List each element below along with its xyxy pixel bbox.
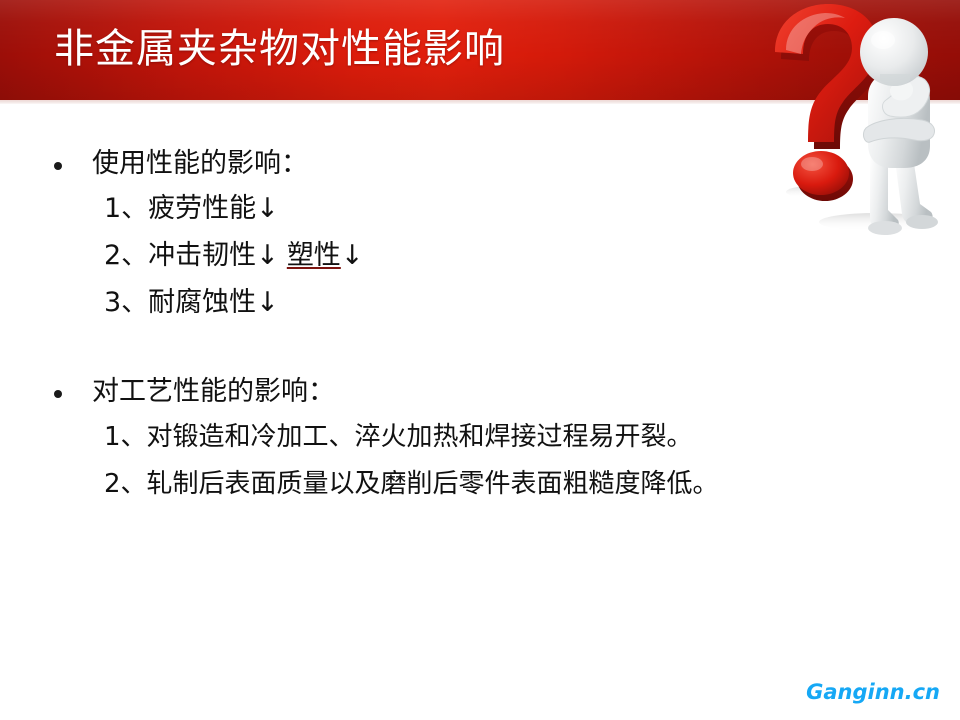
sub-item-row: 3、耐腐蚀性↓: [0, 282, 920, 329]
sub-item-row: 2、轧制后表面质量以及磨削后零件表面粗糙度降低。: [0, 463, 920, 510]
bullet-label: 对工艺性能的影响：: [92, 372, 335, 412]
watermark-logo: Ganginn.cn: [806, 680, 940, 704]
sub-item-underlined-term: 塑性: [287, 240, 341, 271]
sub-item-row: 1、对锻造和冷加工、淬火加热和焊接过程易开裂。: [0, 416, 920, 463]
presentation-slide: 非金属夹杂物对性能影响: [0, 0, 960, 720]
bullet-block-process-performance: 对工艺性能的影响： 1、对锻造和冷加工、淬火加热和焊接过程易开裂。 2、轧制后表…: [0, 372, 920, 510]
sub-item-text: 1、疲劳性能↓: [104, 188, 279, 230]
page-title: 非金属夹杂物对性能影响: [54, 25, 505, 73]
bullet-dot-icon: [54, 162, 62, 170]
sub-item-text: 1、对锻造和冷加工、淬火加热和焊接过程易开裂。: [104, 416, 693, 458]
sub-item-row: 1、疲劳性能↓: [0, 188, 920, 235]
bullet-block-usage-performance: 使用性能的影响： 1、疲劳性能↓ 2、冲击韧性↓塑性↓ 3、耐腐蚀性↓: [0, 144, 920, 329]
bullet-row: 使用性能的影响：: [0, 144, 920, 188]
sub-item-row: 2、冲击韧性↓塑性↓: [0, 235, 920, 282]
title-underline-rule: [0, 100, 960, 104]
sub-item-text-composite: 2、冲击韧性↓塑性↓: [104, 235, 363, 277]
sub-item-text: 2、轧制后表面质量以及磨削后零件表面粗糙度降低。: [104, 463, 719, 505]
sub-item-suffix: ↓: [341, 240, 364, 271]
slide-body: 使用性能的影响： 1、疲劳性能↓ 2、冲击韧性↓塑性↓ 3、耐腐蚀性↓ 对工艺性…: [0, 104, 960, 720]
sub-item-prefix: 2、冲击韧性↓: [104, 240, 279, 271]
bullet-label: 使用性能的影响：: [92, 144, 308, 184]
bullet-row: 对工艺性能的影响：: [0, 372, 920, 416]
bullet-dot-icon: [54, 390, 62, 398]
sub-item-text: 3、耐腐蚀性↓: [104, 282, 279, 324]
